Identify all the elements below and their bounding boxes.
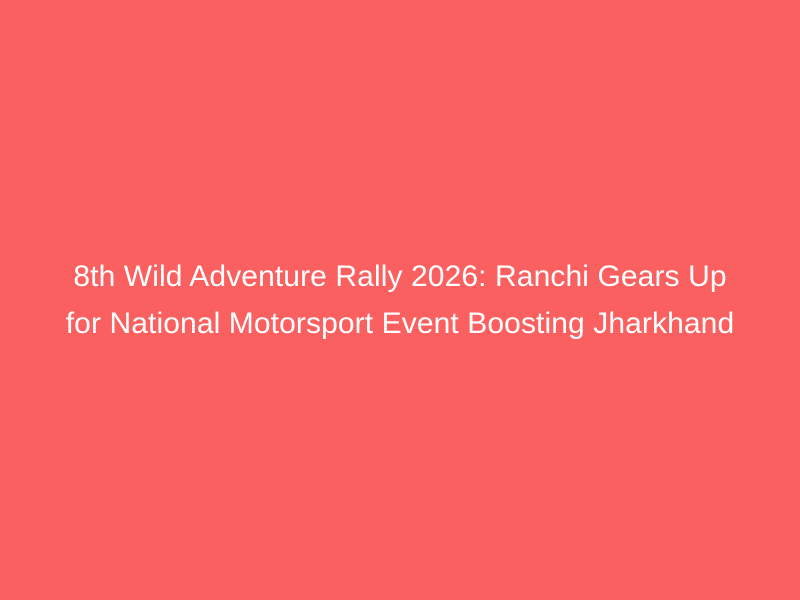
- headline-card: 8th Wild Adventure Rally 2026: Ranchi Ge…: [0, 0, 800, 600]
- headline-block: 8th Wild Adventure Rally 2026: Ranchi Ge…: [64, 253, 736, 347]
- page-title: 8th Wild Adventure Rally 2026: Ranchi Ge…: [64, 253, 736, 347]
